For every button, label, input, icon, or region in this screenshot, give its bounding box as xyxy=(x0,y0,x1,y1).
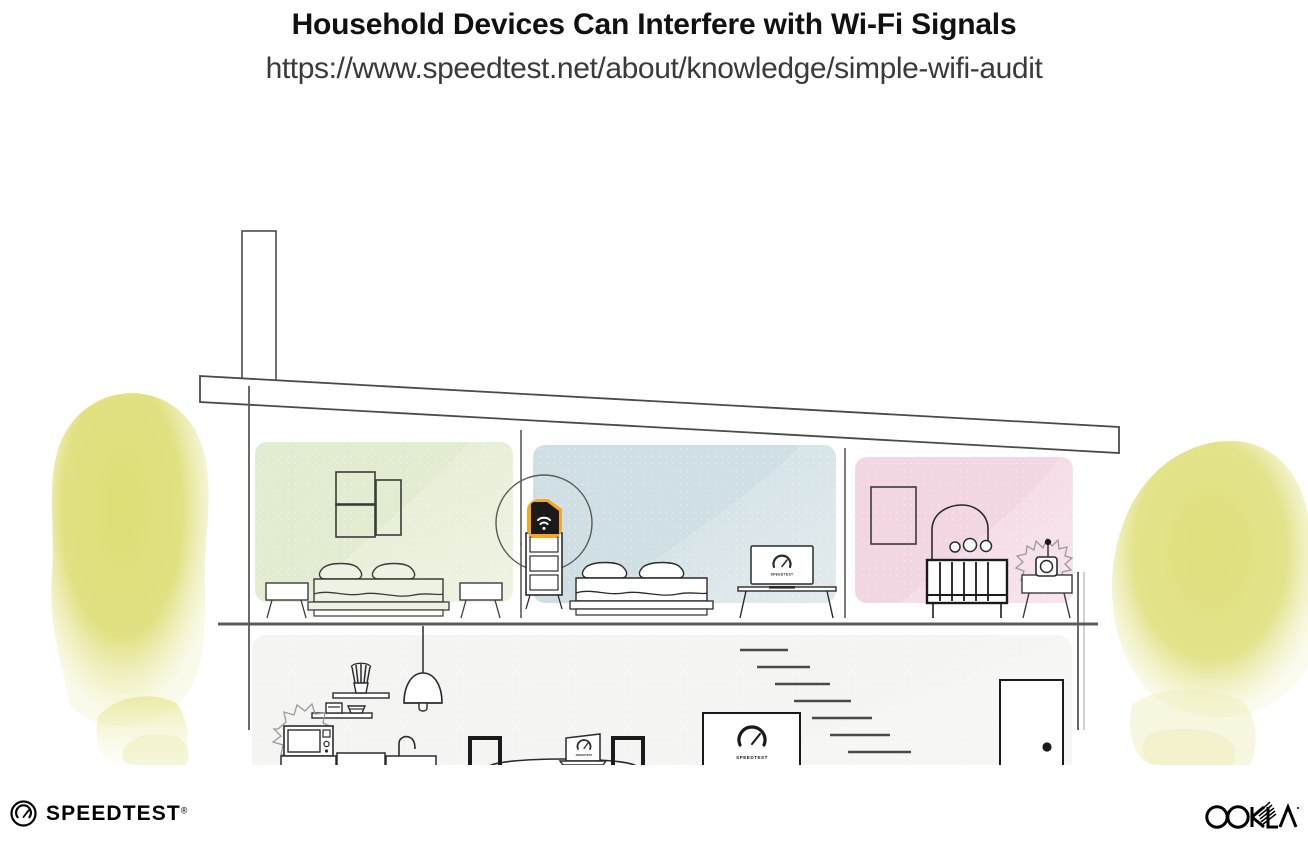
page-title: Household Devices Can Interfere with Wi-… xyxy=(0,8,1308,42)
television-speedtest[interactable]: SPEEDTEST xyxy=(703,713,800,765)
entry-door[interactable] xyxy=(1000,680,1063,765)
laptop-screen-label: SPEEDTEST xyxy=(576,753,593,757)
ookla-logo xyxy=(1204,798,1300,834)
speedtest-wordmark: SPEEDTEST® xyxy=(46,802,187,826)
tree-foliage-right xyxy=(1112,441,1308,765)
bowl-left xyxy=(326,703,342,713)
nightstand-right xyxy=(460,583,502,618)
illustration-canvas: Household Devices Can Interfere with Wi-… xyxy=(0,0,1308,861)
chimney xyxy=(242,231,276,383)
ookla-wordmark-icon xyxy=(1204,798,1300,834)
pillow-left xyxy=(319,564,361,580)
monitor-speedtest[interactable]: SPEEDTEST xyxy=(751,546,813,589)
nightstand-left xyxy=(266,583,308,618)
room-blue-bedroom: SPEEDTEST xyxy=(496,445,836,618)
door-knob[interactable] xyxy=(1042,742,1051,751)
pillow-right xyxy=(372,564,414,580)
tv-screen-label: SPEEDTEST xyxy=(736,755,768,760)
tree-foliage-left xyxy=(51,393,208,765)
speedtest-logo: SPEEDTEST® xyxy=(10,800,187,827)
sloped-roof-slab xyxy=(200,376,1119,453)
laptop-speedtest[interactable]: SPEEDTEST xyxy=(560,734,606,765)
room-pink-nursery xyxy=(855,457,1073,618)
house-cutaway-diagram: SPEEDTEST xyxy=(0,105,1308,765)
speedtest-trademark: ® xyxy=(181,805,188,815)
bowl-right xyxy=(348,706,365,713)
microwave[interactable] xyxy=(284,726,333,756)
speedtest-wordmark-text: SPEEDTEST xyxy=(46,802,181,825)
speedtest-gauge-icon xyxy=(10,800,37,827)
pillow-left xyxy=(582,563,626,579)
source-url: https://www.speedtest.net/about/knowledg… xyxy=(0,52,1308,86)
pillow-right xyxy=(639,563,683,579)
room-green-bedroom xyxy=(255,442,513,618)
room-grey-living-kitchen: SPEEDTEST xyxy=(252,626,1072,765)
crib xyxy=(927,560,1007,618)
wall-shelf-upper xyxy=(333,693,389,698)
monitor-screen-label: SPEEDTEST xyxy=(771,573,794,577)
